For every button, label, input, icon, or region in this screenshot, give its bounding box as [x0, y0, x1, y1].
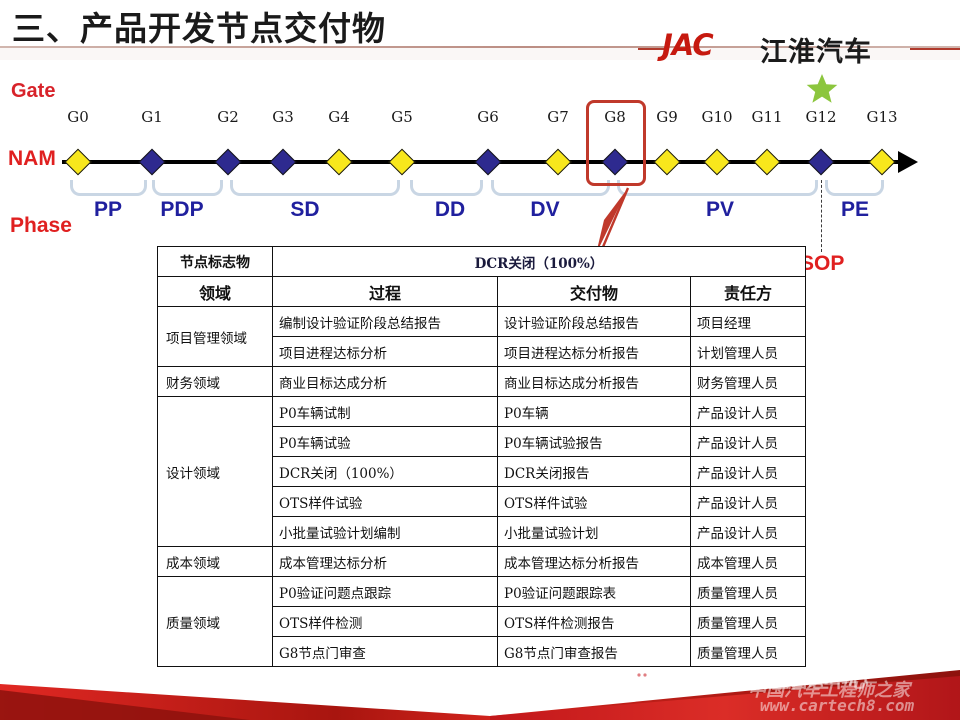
deliverable-cell: 小批量试验计划: [498, 517, 691, 547]
gate-label-g9: G9: [656, 108, 678, 126]
domain-cell: 项目管理领域: [158, 307, 273, 367]
deliverable-cell: P0车辆: [498, 397, 691, 427]
table-row: 项目管理领域编制设计验证阶段总结报告设计验证阶段总结报告项目经理: [158, 307, 806, 337]
owner-cell: 产品设计人员: [691, 457, 806, 487]
owner-cell: 产品设计人员: [691, 487, 806, 517]
deliverable-cell: P0验证问题跟踪表: [498, 577, 691, 607]
gate-marker-g10: [704, 149, 731, 176]
owner-cell: 项目经理: [691, 307, 806, 337]
sop-guideline: [821, 180, 822, 252]
gate-marker-g6: [475, 149, 502, 176]
gate-label-g3: G3: [272, 108, 294, 126]
table-row-marker: 节点标志物DCR关闭（100%）: [158, 247, 806, 277]
phase-label-sd: SD: [290, 198, 319, 222]
marker-row-value: DCR关闭（100%）: [273, 247, 806, 277]
jac-chinese-name: 江淮汽车: [760, 30, 872, 69]
column-header-2: 交付物: [498, 277, 691, 307]
gate-label-g10: G10: [701, 108, 732, 126]
owner-cell: 产品设计人员: [691, 517, 806, 547]
gate-label-g13: G13: [866, 108, 897, 126]
watermark-logo-icon: [628, 666, 654, 688]
g8-highlight-box: [586, 100, 646, 186]
process-cell: 商业目标达成分析: [273, 367, 498, 397]
column-header-1: 过程: [273, 277, 498, 307]
deliverable-cell: 成本管理达标分析报告: [498, 547, 691, 577]
marker-row-label: 节点标志物: [158, 247, 273, 277]
gate-marker-g12: [808, 149, 835, 176]
table-header-row: 领域过程交付物责任方: [158, 277, 806, 307]
gate-marker-g9: [654, 149, 681, 176]
owner-cell: 质量管理人员: [691, 607, 806, 637]
jac-wordmark: JAC: [662, 28, 713, 62]
phase-bracket-pe: [825, 180, 884, 196]
deliverable-cell: OTS样件试验: [498, 487, 691, 517]
timeline-arrow-icon: [898, 151, 918, 173]
gate-label-g4: G4: [328, 108, 350, 126]
gate-label-g7: G7: [547, 108, 569, 126]
deliverable-cell: 商业目标达成分析报告: [498, 367, 691, 397]
jac-logo: JAC 江淮汽车: [648, 30, 918, 64]
phase-bracket-pv: [617, 180, 818, 196]
phase-label-pp: PP: [94, 198, 122, 222]
phase-bracket-dd: [410, 180, 483, 196]
deliverable-cell: 设计验证阶段总结报告: [498, 307, 691, 337]
gate-marker-g0: [65, 149, 92, 176]
phase-label-dv: DV: [530, 198, 559, 222]
gate-marker-g11: [754, 149, 781, 176]
gate-label-g6: G6: [477, 108, 499, 126]
process-cell: 编制设计验证阶段总结报告: [273, 307, 498, 337]
star-icon: [806, 73, 838, 104]
gate-label-g0: G0: [67, 108, 89, 126]
owner-cell: 质量管理人员: [691, 577, 806, 607]
phase-bracket-pp: [70, 180, 147, 196]
gate-axis-label: Gate: [11, 80, 55, 103]
column-header-0: 领域: [158, 277, 273, 307]
deliverable-cell: OTS样件检测报告: [498, 607, 691, 637]
phase-label-pv: PV: [706, 198, 734, 222]
phase-label-pe: PE: [841, 198, 869, 222]
owner-cell: 成本管理人员: [691, 547, 806, 577]
domain-cell: 质量领域: [158, 577, 273, 667]
gate-marker-g3: [270, 149, 297, 176]
gate-label-g2: G2: [217, 108, 239, 126]
column-header-3: 责任方: [691, 277, 806, 307]
phase-axis-label: Phase: [10, 214, 72, 238]
process-cell: 小批量试验计划编制: [273, 517, 498, 547]
deliverable-cell: DCR关闭报告: [498, 457, 691, 487]
deliverable-cell: P0车辆试验报告: [498, 427, 691, 457]
process-cell: 成本管理达标分析: [273, 547, 498, 577]
process-cell: P0车辆试验: [273, 427, 498, 457]
process-cell: P0验证问题点跟踪: [273, 577, 498, 607]
gate-marker-g13: [869, 149, 896, 176]
gate-marker-g4: [326, 149, 353, 176]
domain-cell: 设计领域: [158, 397, 273, 547]
gate-label-g5: G5: [391, 108, 413, 126]
gate-marker-g5: [389, 149, 416, 176]
sop-label: SOP: [800, 252, 844, 276]
gate-marker-g1: [139, 149, 166, 176]
process-cell: P0车辆试制: [273, 397, 498, 427]
process-cell: DCR关闭（100%）: [273, 457, 498, 487]
table-row: 财务领域商业目标达成分析商业目标达成分析报告财务管理人员: [158, 367, 806, 397]
logo-rule-right: [910, 48, 960, 50]
phase-label-dd: DD: [435, 198, 465, 222]
slide-root: 三、产品开发节点交付物 JAC 江淮汽车 Gate NAM Phase G0G1…: [0, 0, 960, 720]
domain-cell: 财务领域: [158, 367, 273, 397]
process-cell: OTS样件试验: [273, 487, 498, 517]
gate-label-g12: G12: [805, 108, 836, 126]
table-row: 设计领域P0车辆试制P0车辆产品设计人员: [158, 397, 806, 427]
phase-bracket-sd: [230, 180, 400, 196]
process-cell: 项目进程达标分析: [273, 337, 498, 367]
deliverable-cell: 项目进程达标分析报告: [498, 337, 691, 367]
gate-label-g1: G1: [141, 108, 163, 126]
gate-marker-g2: [215, 149, 242, 176]
nam-axis-label: NAM: [8, 147, 56, 171]
phase-bracket-pdp: [152, 180, 223, 196]
owner-cell: 财务管理人员: [691, 367, 806, 397]
table-row: 质量领域P0验证问题点跟踪P0验证问题跟踪表质量管理人员: [158, 577, 806, 607]
process-cell: OTS样件检测: [273, 607, 498, 637]
bottom-banner: [0, 660, 960, 720]
gate-label-g11: G11: [751, 108, 782, 126]
phase-label-pdp: PDP: [160, 198, 203, 222]
owner-cell: 产品设计人员: [691, 397, 806, 427]
gate-marker-g7: [545, 149, 572, 176]
deliverables-table: 节点标志物DCR关闭（100%）领域过程交付物责任方项目管理领域编制设计验证阶段…: [157, 246, 806, 667]
page-title: 三、产品开发节点交付物: [12, 2, 386, 50]
domain-cell: 成本领域: [158, 547, 273, 577]
table-row: 成本领域成本管理达标分析成本管理达标分析报告成本管理人员: [158, 547, 806, 577]
owner-cell: 产品设计人员: [691, 427, 806, 457]
owner-cell: 计划管理人员: [691, 337, 806, 367]
